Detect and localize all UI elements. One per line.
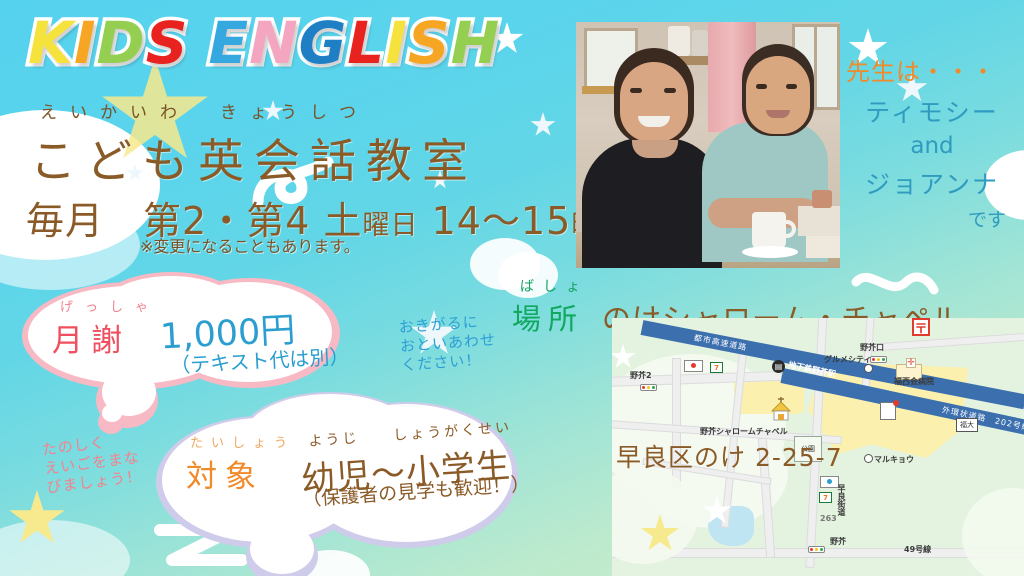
- map-convenience-icon: 7: [819, 492, 832, 503]
- place-furigana: ばしょ: [520, 276, 961, 296]
- note-have-fun: たのしく えいごをまな びましょう！: [41, 429, 143, 497]
- flyer-canvas: KIDS ENGLISH えいかいわ きょうしつ こども英会話教室 毎月 第2・…: [0, 0, 1024, 576]
- title-letter: H: [451, 14, 501, 72]
- teacher-name-2: ジョアンナ: [840, 165, 1024, 201]
- map-shop-icon: [684, 360, 703, 372]
- map-poi-marker: [864, 454, 873, 463]
- map-water: [708, 506, 754, 546]
- teachers-conjunction: and: [840, 133, 1024, 159]
- teachers-block: 先生は・・・ ティモシー and ジョアンナ です: [840, 52, 1024, 232]
- fee-label: 月謝: [52, 315, 130, 360]
- map-label-hospital: 福西会病院: [894, 376, 934, 387]
- headline-main: こども英会話教室: [30, 125, 478, 191]
- title-letter: N: [249, 14, 299, 72]
- map-address: 早良区のけ 2-25-7: [616, 438, 843, 474]
- cloud-decor: [0, 520, 130, 576]
- schedule-note: ※変更になることもあります。: [140, 233, 360, 257]
- title-letter: G: [299, 14, 348, 72]
- headline-furigana: えいかいわ きょうしつ: [40, 98, 478, 123]
- map-label-nokake: 野芥: [830, 536, 846, 547]
- map-label-route-49: 49号線: [904, 544, 931, 555]
- title-letter: I: [74, 14, 97, 72]
- map-label-church: 野芥シャロームチャペル: [700, 426, 788, 437]
- target-label: 対象: [186, 451, 295, 496]
- target-furigana: たいしょう: [190, 432, 295, 451]
- title-space: [188, 14, 208, 72]
- place-label: 場所: [512, 296, 584, 338]
- star-decor: [8, 490, 66, 548]
- headline-block: えいかいわ きょうしつ こども英会話教室: [30, 98, 478, 191]
- target-bubble-tail: [250, 524, 314, 574]
- map-univ-direction-arrow: 福大: [956, 418, 978, 432]
- title-letter: D: [97, 14, 146, 72]
- map-signal-icon: [640, 384, 657, 391]
- fee-bubble-tail: [102, 404, 122, 422]
- title-letter: S: [408, 14, 451, 72]
- title-letter: E: [208, 14, 249, 72]
- map-signal-icon: [870, 356, 887, 363]
- teachers-suffix: です: [840, 205, 1024, 232]
- map-label-marukyo: マルキョウ: [874, 454, 914, 465]
- map-label-nokeguchi: 野芥口: [860, 342, 884, 353]
- schedule-time: 14〜15: [432, 199, 572, 243]
- kids-english-wordmark: KIDS ENGLISH: [28, 14, 500, 72]
- teachers-photo: [576, 22, 840, 268]
- fee-label-block: げっしゃ 月謝: [52, 296, 160, 360]
- map-signal-icon: [808, 546, 825, 553]
- title-letter: S: [146, 14, 189, 72]
- map-label-sawara-street: 早良街道: [836, 484, 847, 516]
- map-label-gourmet-city: グルメシティ: [824, 354, 872, 365]
- teachers-lead: 先生は・・・: [840, 52, 1024, 87]
- map-label-route-263: 263: [820, 514, 837, 523]
- title-letter: K: [28, 14, 74, 72]
- map-label-nokake2: 野芥2: [630, 370, 652, 381]
- title-letter: L: [347, 14, 385, 72]
- map-poi-marker: [864, 364, 873, 373]
- fee-furigana: げっしゃ: [60, 296, 160, 315]
- star-decor: [530, 112, 556, 138]
- target-label-block: たいしょう 対象: [186, 432, 295, 496]
- map-hospital-icon: ✛: [906, 358, 916, 368]
- title-letter: I: [385, 14, 408, 72]
- page-title: KIDS ENGLISH: [28, 14, 500, 72]
- map-convenience-icon: 7: [710, 362, 723, 373]
- map-station-icon: ▤: [772, 360, 785, 373]
- map-church-icon: [768, 396, 794, 422]
- schedule-day-sub: 曜日: [363, 210, 419, 241]
- map-post-office-icon: 〒: [912, 318, 930, 336]
- teacher-name-1: ティモシー: [840, 93, 1024, 129]
- map-gas-station-icon: [880, 402, 896, 420]
- note-contact-us: おきがるに おといあわせ ください！: [398, 312, 498, 375]
